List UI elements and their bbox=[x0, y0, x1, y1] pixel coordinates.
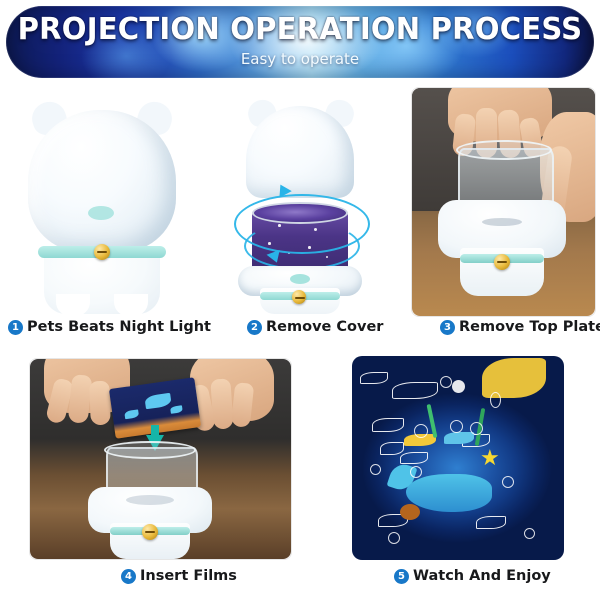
device-foot-right bbox=[114, 294, 148, 314]
starfish-icon: ★ bbox=[480, 448, 500, 468]
page-root: PROJECTION OPERATION PROCESS Easy to ope… bbox=[0, 0, 600, 600]
step-label-3: Remove Top Plate bbox=[459, 319, 600, 335]
photo-scene bbox=[30, 359, 291, 559]
bell-icon bbox=[292, 290, 306, 304]
device-head bbox=[28, 110, 176, 252]
step-label-2: Remove Cover bbox=[266, 319, 383, 335]
step-badge-2: 2 bbox=[247, 320, 262, 335]
header-banner: PROJECTION OPERATION PROCESS Easy to ope… bbox=[6, 6, 594, 78]
step-4-caption: 4 Insert Films bbox=[121, 568, 237, 584]
step-5-caption: 5 Watch And Enjoy bbox=[394, 568, 551, 584]
step-label-4: Insert Films bbox=[140, 568, 237, 584]
rotation-arrow-ring-lower bbox=[244, 222, 360, 270]
step-1-caption: 1 Pets Beats Night Light bbox=[8, 319, 211, 335]
fish-icon bbox=[392, 382, 438, 399]
fish-icon bbox=[400, 452, 428, 464]
step-badge-1: 1 bbox=[8, 320, 23, 335]
banner-subtitle: Easy to operate bbox=[6, 50, 594, 68]
step-label-1: Pets Beats Night Light bbox=[27, 319, 211, 335]
device-foot-left bbox=[56, 294, 90, 314]
step-label-5: Watch And Enjoy bbox=[413, 568, 551, 584]
fish-icon bbox=[476, 516, 506, 529]
pufferfish-icon bbox=[400, 504, 420, 520]
photo-scene bbox=[412, 88, 595, 316]
bell-icon bbox=[494, 254, 510, 270]
bell-icon bbox=[94, 244, 110, 260]
device-nose bbox=[88, 206, 114, 220]
step-badge-4: 4 bbox=[121, 569, 136, 584]
step-badge-3: 3 bbox=[440, 320, 455, 335]
banner-title: PROJECTION OPERATION PROCESS bbox=[15, 12, 585, 47]
step-badge-5: 5 bbox=[394, 569, 409, 584]
cylinder-rim bbox=[104, 441, 196, 459]
fish-icon bbox=[380, 442, 404, 455]
ocean-projection: ★ bbox=[352, 356, 564, 560]
step-2-image bbox=[204, 96, 396, 314]
big-yellow-fish-icon bbox=[482, 358, 546, 398]
step-3-image bbox=[411, 87, 596, 317]
blue-fish-icon bbox=[444, 432, 474, 444]
device-nose bbox=[290, 274, 310, 284]
bell-icon bbox=[142, 524, 158, 540]
seaweed-icon bbox=[427, 404, 438, 438]
step-5-image: ★ bbox=[352, 356, 564, 560]
fish-icon bbox=[360, 372, 388, 384]
step-4-image bbox=[29, 358, 292, 560]
step-3-caption: 3 Remove Top Plate bbox=[440, 319, 600, 335]
step-1-image bbox=[6, 96, 198, 314]
fish-icon bbox=[372, 418, 404, 432]
cylinder-rim bbox=[456, 140, 552, 160]
lens-speckles bbox=[126, 495, 174, 505]
step-2-caption: 2 Remove Cover bbox=[247, 319, 383, 335]
whale-icon bbox=[406, 474, 492, 512]
lens-speckles bbox=[482, 218, 522, 226]
